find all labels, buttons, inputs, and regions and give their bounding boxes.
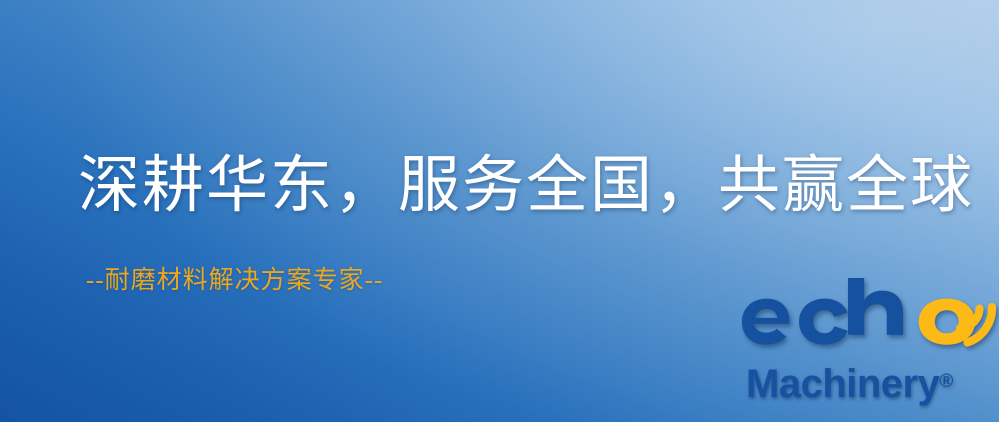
logo-letter-e <box>742 299 790 345</box>
hero-banner: 深耕华东，服务全国，共赢全球 --耐磨材料解决方案专家-- <box>0 0 999 422</box>
logo-letter-c <box>799 299 848 345</box>
page-title: 深耕华东，服务全国，共赢全球 <box>78 155 974 217</box>
company-logo[interactable]: Machinery® <box>742 296 994 418</box>
logo-letter-h <box>848 278 903 335</box>
logo-subtext: Machinery® <box>746 364 953 404</box>
page-subtitle: --耐磨材料解决方案专家-- <box>86 268 383 293</box>
registered-trademark-icon: ® <box>939 371 953 392</box>
logo-wordmark-echo <box>742 296 994 370</box>
logo-letter-o <box>919 299 975 345</box>
logo-subtext-label: Machinery <box>746 362 939 406</box>
